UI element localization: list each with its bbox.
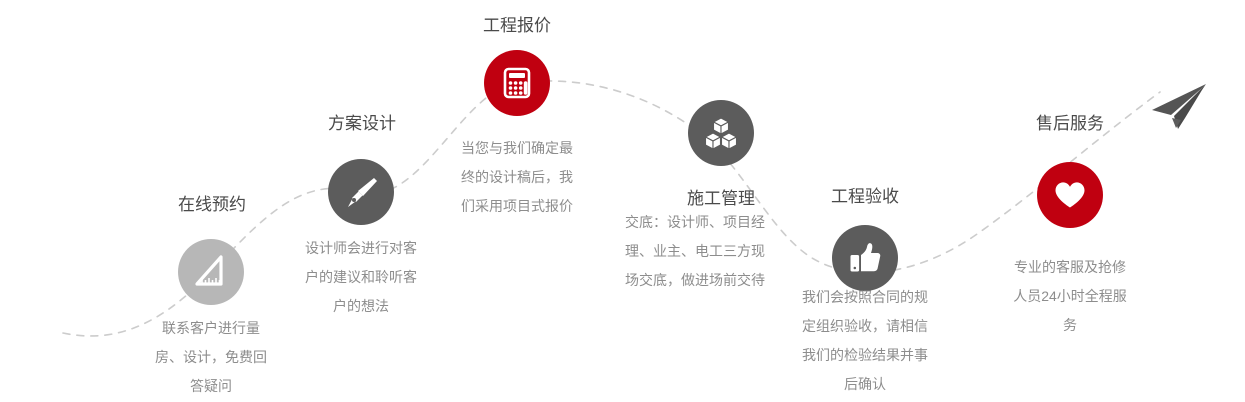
step-desc-line: 后确认 [775, 370, 955, 399]
step-title-6: 售后服务 [960, 113, 1180, 135]
step-desc-line: 务 [993, 311, 1147, 340]
step-icon-circle-2[interactable] [328, 159, 394, 225]
step-title-3: 工程报价 [407, 15, 627, 37]
step-desc-6: 专业的客服及抢修 人员24小时全程服 务 [993, 253, 1147, 340]
step-desc-line: 户的想法 [284, 292, 438, 321]
step-desc-line: 交底：设计师、项目经 [605, 208, 785, 237]
step-icon-circle-6[interactable] [1037, 162, 1103, 228]
calculator-icon [497, 63, 537, 103]
heart-icon [1050, 175, 1090, 215]
step-desc-line: 专业的客服及抢修 [993, 253, 1147, 282]
step-desc-line: 设计师会进行对客 [284, 234, 438, 263]
step-title-5: 工程验收 [755, 186, 975, 208]
step-desc-line: 理、业主、电工三方现 [605, 237, 785, 266]
step-desc-line: 人员24小时全程服 [993, 282, 1147, 311]
step-icon-circle-1[interactable] [178, 239, 244, 305]
step-desc-line: 场交底，做进场前交待 [605, 266, 785, 295]
step-desc-line: 们采用项目式报价 [440, 192, 594, 221]
step-desc-line: 终的设计稿后，我 [440, 163, 594, 192]
step-desc-line: 当您与我们确定最 [440, 134, 594, 163]
step-desc-3: 当您与我们确定最 终的设计稿后，我 们采用项目式报价 [440, 134, 594, 221]
step-desc-4: 交底：设计师、项目经 理、业主、电工三方现 场交底，做进场前交待 [605, 208, 785, 295]
step-desc-2: 设计师会进行对客 户的建议和聆听客 户的想法 [284, 234, 438, 321]
step-desc-line: 我们会按照合同的规 [775, 283, 955, 312]
step-desc-line: 我们的检验结果并事 [775, 341, 955, 370]
process-flow-infographic: 在线预约 联系客户进行量 房、设计，免费回 答疑 [0, 0, 1245, 402]
step-title-2: 方案设计 [252, 113, 472, 135]
step-desc-line: 户的建议和聆听客 [284, 263, 438, 292]
step-desc-1: 联系客户进行量 房、设计，免费回 答疑问 [134, 314, 288, 401]
blocks-icon [701, 113, 741, 153]
step-desc-5: 我们会按照合同的规 定组织验收，请相信 我们的检验结果并事 后确认 [775, 283, 955, 399]
step-desc-line: 答疑问 [134, 372, 288, 401]
step-desc-line: 联系客户进行量 [134, 314, 288, 343]
step-desc-line: 定组织验收，请相信 [775, 312, 955, 341]
pen-nib-icon [341, 172, 381, 212]
step-desc-line: 房、设计，免费回 [134, 343, 288, 372]
step-icon-circle-5[interactable] [832, 225, 898, 291]
step-icon-circle-3[interactable] [484, 50, 550, 116]
step-icon-circle-4[interactable] [688, 100, 754, 166]
triangle-ruler-icon [191, 252, 231, 292]
step-title-1: 在线预约 [102, 194, 322, 216]
thumbs-up-icon [845, 238, 885, 278]
